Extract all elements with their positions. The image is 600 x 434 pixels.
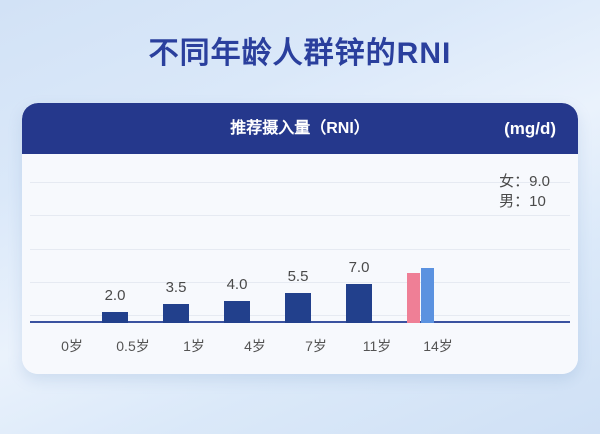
card-header-title: 推荐摄入量（RNI） <box>22 103 578 154</box>
gender-annotation: 女：9.0 男：10 <box>499 172 550 212</box>
x-tick-4: 7岁 <box>286 336 346 356</box>
bar-14-years-male[interactable] <box>421 268 434 323</box>
x-tick-6: 14岁 <box>408 336 468 356</box>
bar-7-years[interactable] <box>285 293 311 323</box>
gridline <box>30 182 570 183</box>
card-header: 推荐摄入量（RNI） (mg/d) <box>22 103 578 154</box>
bar-11-years[interactable] <box>346 284 372 323</box>
bar-value-label: 2.0 <box>93 287 137 304</box>
x-tick-3: 4岁 <box>225 336 285 356</box>
bar-0-5-years[interactable] <box>102 312 128 323</box>
x-tick-5: 11岁 <box>347 336 407 356</box>
bar-14-years-female[interactable] <box>407 273 420 323</box>
bar-4-years[interactable] <box>224 301 250 323</box>
card-header-unit: (mg/d) <box>504 103 556 154</box>
bar-value-label: 7.0 <box>337 259 381 276</box>
x-tick-2: 1岁 <box>164 336 224 356</box>
gender-annotation-female: 女：9.0 <box>499 172 550 192</box>
gridline <box>30 215 570 216</box>
x-tick-1: 0.5岁 <box>103 336 163 356</box>
bar-chart-plot: 女：9.0 男：10 2.0 3.5 4.0 5.5 7.0 0岁 0.5岁 1… <box>22 154 578 374</box>
gender-annotation-male: 男：10 <box>499 192 550 212</box>
page-title: 不同年龄人群锌的RNI <box>0 28 600 72</box>
chart-page: 不同年龄人群锌的RNI 推荐摄入量（RNI） (mg/d) 女：9.0 男：10 <box>0 0 600 434</box>
bar-value-label: 4.0 <box>215 276 259 293</box>
bar-1-years[interactable] <box>163 304 189 323</box>
bar-value-label: 5.5 <box>276 268 320 285</box>
x-tick-0: 0岁 <box>42 336 102 356</box>
bar-value-label: 3.5 <box>154 279 198 296</box>
chart-card: 推荐摄入量（RNI） (mg/d) 女：9.0 男：10 <box>22 103 578 374</box>
gridline <box>30 249 570 250</box>
